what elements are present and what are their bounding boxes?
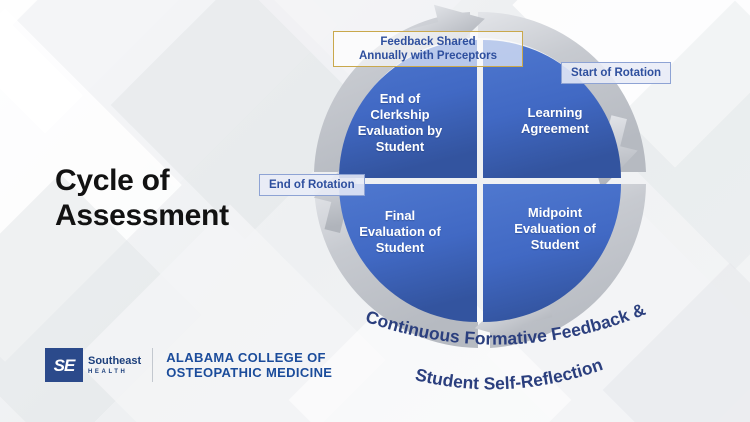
curved-caption-line-2: Student Self-Reflection [413,354,605,393]
callout-start-of-rotation: Start of Rotation [561,62,671,84]
southeast-health-wordmark: Southeast HEALTH [88,356,141,375]
quadrant-label-final-evaluation: Final Evaluation of Student [341,208,459,256]
bg-diamond [12,0,337,188]
quadrant-label-end-of-clerkship: End of Clerkship Evaluation by Student [341,91,459,155]
callout-end-of-rotation: End of Rotation [259,174,365,196]
quadrant-label-midpoint-evaluation: Midpoint Evaluation of Student [496,205,614,253]
page-title: Cycle of Assessment [55,163,229,234]
brand-subname: HEALTH [88,369,141,375]
logo-monogram: SE [54,357,75,374]
quadrant-label-learning-agreement: Learning Agreement [496,105,614,137]
slide-canvas: Cycle of Assessment SE Southeast HEALTH … [0,0,750,422]
curved-caption-line-1: Continuous Formative Feedback & [363,299,648,349]
logo-divider [152,348,153,382]
bg-diamond [0,0,193,133]
callout-feedback-shared: Feedback Shared Annually with Preceptors [333,31,523,67]
southeast-health-logo-icon: SE [45,348,83,382]
curved-caption: Continuous Formative Feedback & Student … [300,280,720,422]
brand-name: Southeast [88,356,141,367]
